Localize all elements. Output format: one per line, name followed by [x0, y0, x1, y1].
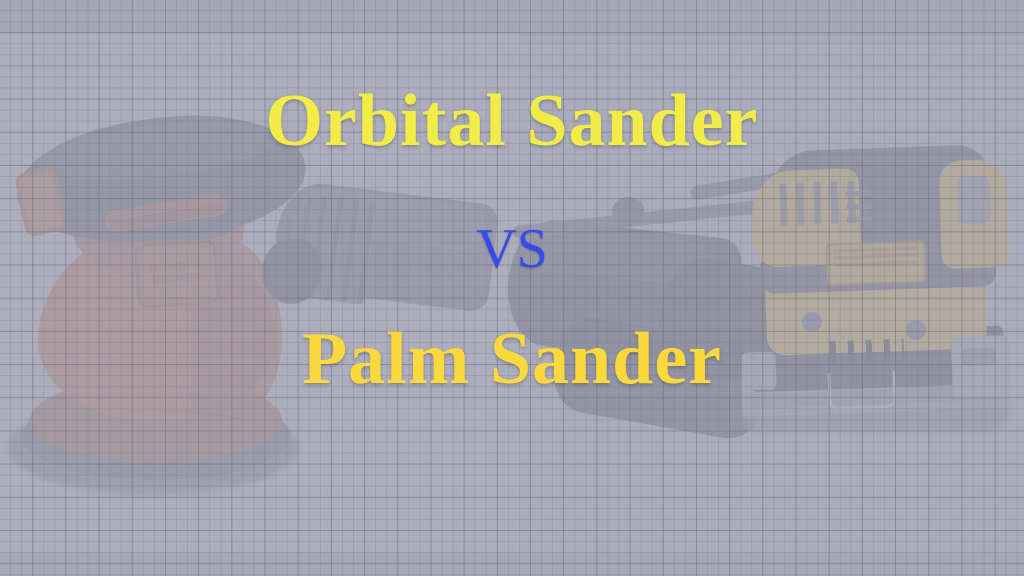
versus-label: VS: [0, 221, 1024, 277]
backdrop-band-top: [0, 0, 1024, 36]
palm-sander-front-vents: [845, 184, 872, 223]
headline-top: Orbital Sander: [0, 84, 1024, 158]
comparison-banner: BLACK & DECKER: [0, 0, 1024, 576]
headline-bottom: Palm Sander: [0, 322, 1024, 396]
palm-sander-power-switch: [957, 175, 991, 224]
backdrop-band-bottom: [0, 552, 1024, 576]
